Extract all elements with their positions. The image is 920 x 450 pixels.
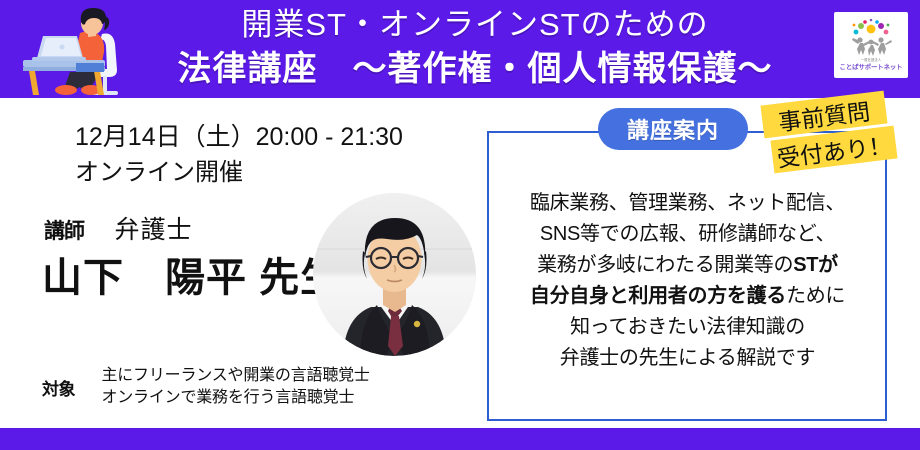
course-info-line-3-bold: STが xyxy=(793,254,838,276)
audience-lines: 主にフリーランスや開業の言語聴覚士 オンラインで業務を行う言語聴覚士 xyxy=(101,365,369,409)
organization-logo: 一般社団法人 ことばサポートネット xyxy=(834,12,908,78)
course-info-line-1: 臨床業務、管理業務、ネット配信、 xyxy=(495,188,880,219)
course-info-line-2: SNS等での広報、研修講師など、 xyxy=(495,219,880,250)
lecturer-heading: 講師 弁護士 xyxy=(44,210,192,246)
event-date-time: 12月14日（土）20:00 - 21:30 xyxy=(75,117,403,153)
audience-line-2: オンラインで業務を行う言語聴覚士 xyxy=(101,387,369,409)
people-with-colorful-dots-icon xyxy=(842,18,900,58)
course-info-line-5: 知っておきたい法律知識の xyxy=(495,312,880,343)
course-info-line-3: 業務が多岐にわたる開業等のSTが xyxy=(495,250,880,281)
title-line-1: 開業ST・オンラインSTのための xyxy=(140,4,810,46)
course-info-line-4-plain: ために xyxy=(786,285,845,307)
course-info-line-6: 弁護士の先生による解説です xyxy=(495,343,880,374)
title-line-2: 法律講座 〜著作権・個人情報保護〜 xyxy=(140,46,810,92)
seminar-flyer: 開業ST・オンラインSTのための 法律講座 〜著作権・個人情報保護〜 xyxy=(0,0,920,450)
logo-org-name: ことばサポートネット xyxy=(840,63,903,72)
person-at-desk-with-laptop-icon xyxy=(18,6,146,98)
lecturer-portrait-image xyxy=(313,193,476,356)
audience-line-1: 主にフリーランスや開業の言語聴覚士 xyxy=(101,365,369,387)
course-info-badge: 講座案内 xyxy=(598,108,748,150)
audience-label: 対象 xyxy=(42,365,75,400)
header-band: 開業ST・オンラインSTのための 法律講座 〜著作権・個人情報保護〜 xyxy=(0,0,920,98)
course-info-line-3-plain: 業務が多岐にわたる開業等の xyxy=(537,254,793,276)
lecturer-name: 山下 陽平 先生 xyxy=(42,245,341,303)
course-info-line-4: 自分自身と利用者の方を護るために xyxy=(495,281,880,312)
course-info-line-4-bold: 自分自身と利用者の方を護る xyxy=(530,285,786,307)
footer-band xyxy=(0,428,920,450)
lecturer-label: 講師 xyxy=(44,220,84,243)
lecturer-role: 弁護士 xyxy=(114,216,192,244)
event-venue: オンライン開催 xyxy=(75,152,243,187)
header-titles: 開業ST・オンラインSTのための 法律講座 〜著作権・個人情報保護〜 xyxy=(140,4,810,92)
course-info-text: 臨床業務、管理業務、ネット配信、 SNS等での広報、研修講師など、 業務が多岐に… xyxy=(495,188,880,374)
audience-block: 対象 主にフリーランスや開業の言語聴覚士 オンラインで業務を行う言語聴覚士 xyxy=(42,365,370,409)
lecturer-portrait xyxy=(313,193,476,356)
